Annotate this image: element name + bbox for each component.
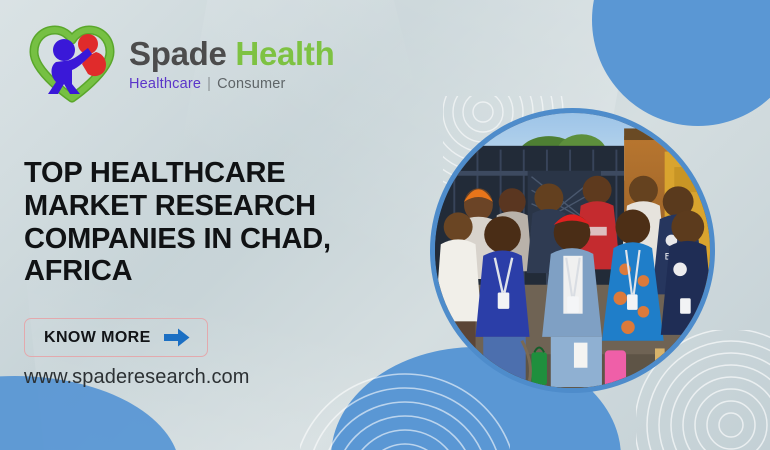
hero-photo: Emirates bbox=[430, 108, 715, 393]
know-more-button-label: KNOW MORE bbox=[44, 329, 151, 347]
brand-logo[interactable]: Spade Health Healthcare | Consumer bbox=[26, 24, 334, 104]
heart-people-logo-icon bbox=[26, 24, 118, 104]
website-url: www.spaderesearch.com bbox=[24, 366, 250, 389]
page-title: Top Healthcare Market Research Companies… bbox=[24, 157, 404, 288]
brand-tagline-separator: | bbox=[207, 77, 211, 92]
know-more-button[interactable]: KNOW MORE bbox=[24, 318, 208, 357]
brand-name: Spade Health bbox=[129, 37, 334, 70]
decorative-circle-top-right bbox=[592, 0, 770, 126]
brand-tagline-consumer: Consumer bbox=[217, 77, 286, 92]
brand-name-part2: Health bbox=[235, 35, 334, 72]
brand-tagline-healthcare: Healthcare bbox=[129, 77, 201, 92]
brand-logo-text: Spade Health Healthcare | Consumer bbox=[129, 37, 334, 92]
brand-name-part1: Spade bbox=[129, 35, 227, 72]
brand-tagline: Healthcare | Consumer bbox=[129, 77, 334, 92]
group-photo-illustration: Emirates bbox=[435, 113, 710, 388]
arrow-right-icon bbox=[164, 328, 190, 347]
promo-banner: Spade Health Healthcare | Consumer Top H… bbox=[0, 0, 770, 450]
